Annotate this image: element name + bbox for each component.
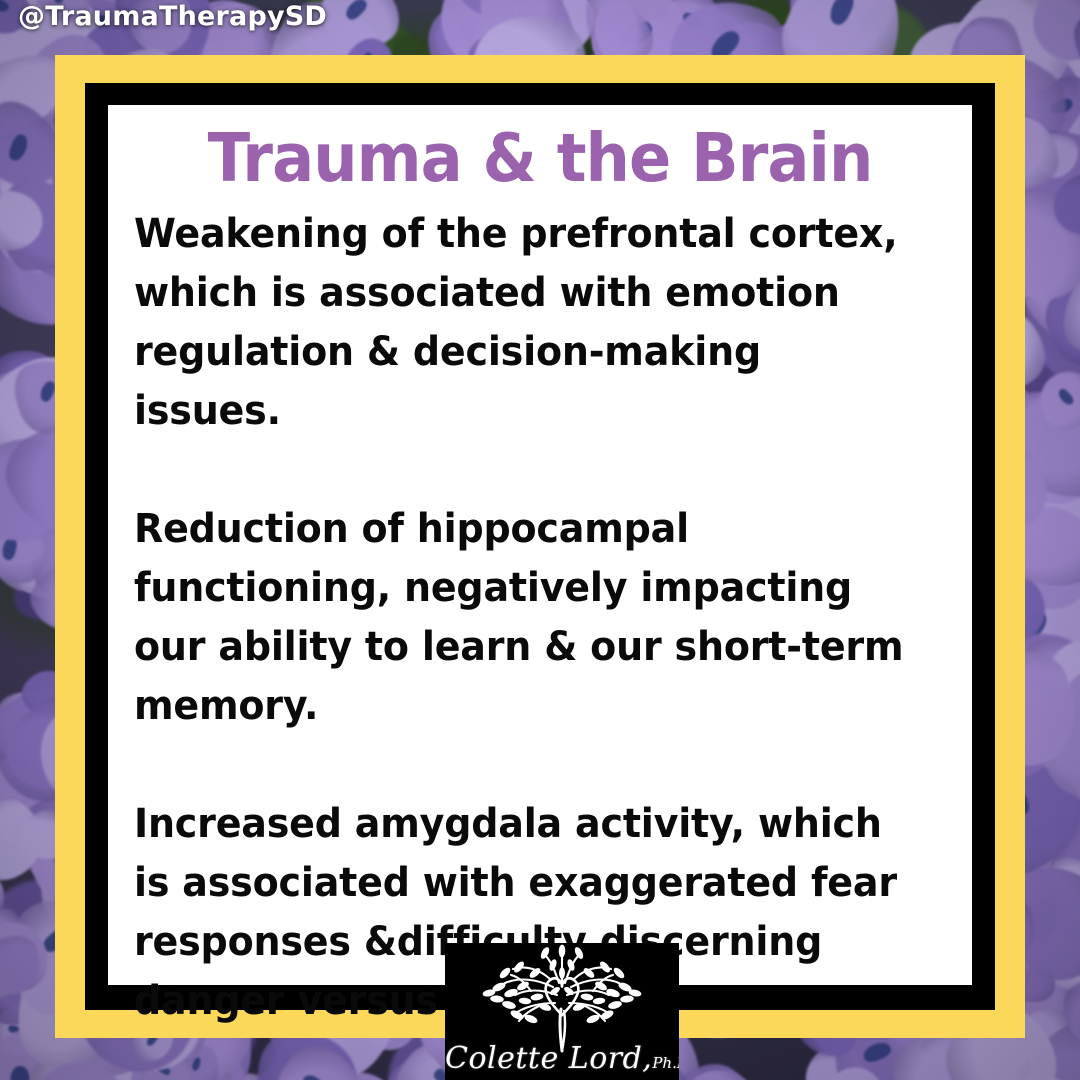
logo-practitioner-name: Colette Lord,Ph.D [445, 1041, 679, 1076]
social-handle: @TraumaTherapySD [18, 1, 327, 32]
tree-of-life-heart-icon [445, 943, 679, 1053]
logo-badge: Colette Lord,Ph.D [445, 943, 679, 1080]
body-text-block: Weakening of the prefrontal cortex, whic… [134, 205, 946, 1031]
logo-credential-text: Ph.D [652, 1054, 679, 1072]
paragraph-prefrontal-cortex: Weakening of the prefrontal cortex, whic… [134, 205, 905, 441]
page-title: Trauma & the Brain [138, 119, 942, 197]
social-post-canvas: @TraumaTherapySD Trauma & the Brain Weak… [0, 0, 1080, 1080]
logo-name-text: Colette Lord, [445, 1041, 652, 1076]
content-card: Trauma & the Brain Weakening of the pref… [108, 105, 972, 985]
paragraph-hippocampus: Reduction of hippocampal functioning, ne… [134, 500, 905, 736]
